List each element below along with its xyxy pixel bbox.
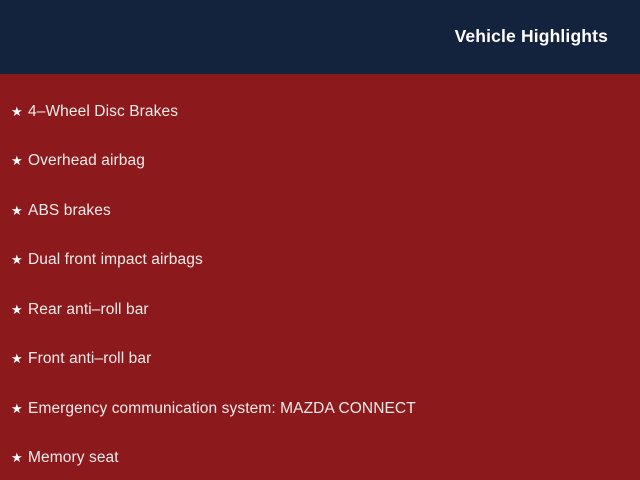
list-item-label: ABS brakes [28, 202, 111, 220]
page-header: Vehicle Highlights [0, 0, 640, 74]
list-item-label: Memory seat [28, 449, 119, 467]
star-icon: ★ [11, 105, 28, 118]
list-item-label: Rear anti–roll bar [28, 301, 149, 319]
page-title: Vehicle Highlights [455, 28, 608, 46]
list-item-label: Emergency communication system: MAZDA CO… [28, 400, 416, 418]
list-item[interactable]: ★ Dual front impact airbags [0, 236, 640, 286]
list-item[interactable]: ★ ABS brakes [0, 186, 640, 236]
star-icon: ★ [11, 451, 28, 464]
highlights-panel: ★ 4–Wheel Disc Brakes ★ Overhead airbag … [0, 74, 640, 480]
star-icon: ★ [11, 253, 28, 266]
list-item-label: Front anti–roll bar [28, 350, 151, 368]
list-item[interactable]: ★ Front anti–roll bar [0, 335, 640, 385]
star-icon: ★ [11, 402, 28, 415]
list-item[interactable]: ★ Memory seat [0, 434, 640, 480]
list-item-label: 4–Wheel Disc Brakes [28, 103, 178, 121]
star-icon: ★ [11, 352, 28, 365]
list-item[interactable]: ★ Emergency communication system: MAZDA … [0, 384, 640, 434]
star-icon: ★ [11, 154, 28, 167]
list-item[interactable]: ★ Rear anti–roll bar [0, 285, 640, 335]
list-item[interactable]: ★ Overhead airbag [0, 137, 640, 187]
list-item-label: Overhead airbag [28, 152, 145, 170]
list-item[interactable]: ★ 4–Wheel Disc Brakes [0, 87, 640, 137]
highlights-list: ★ 4–Wheel Disc Brakes ★ Overhead airbag … [0, 87, 640, 480]
list-item-label: Dual front impact airbags [28, 251, 203, 269]
vehicle-highlights-page: Vehicle Highlights ★ 4–Wheel Disc Brakes… [0, 0, 640, 480]
star-icon: ★ [11, 303, 28, 316]
star-icon: ★ [11, 204, 28, 217]
